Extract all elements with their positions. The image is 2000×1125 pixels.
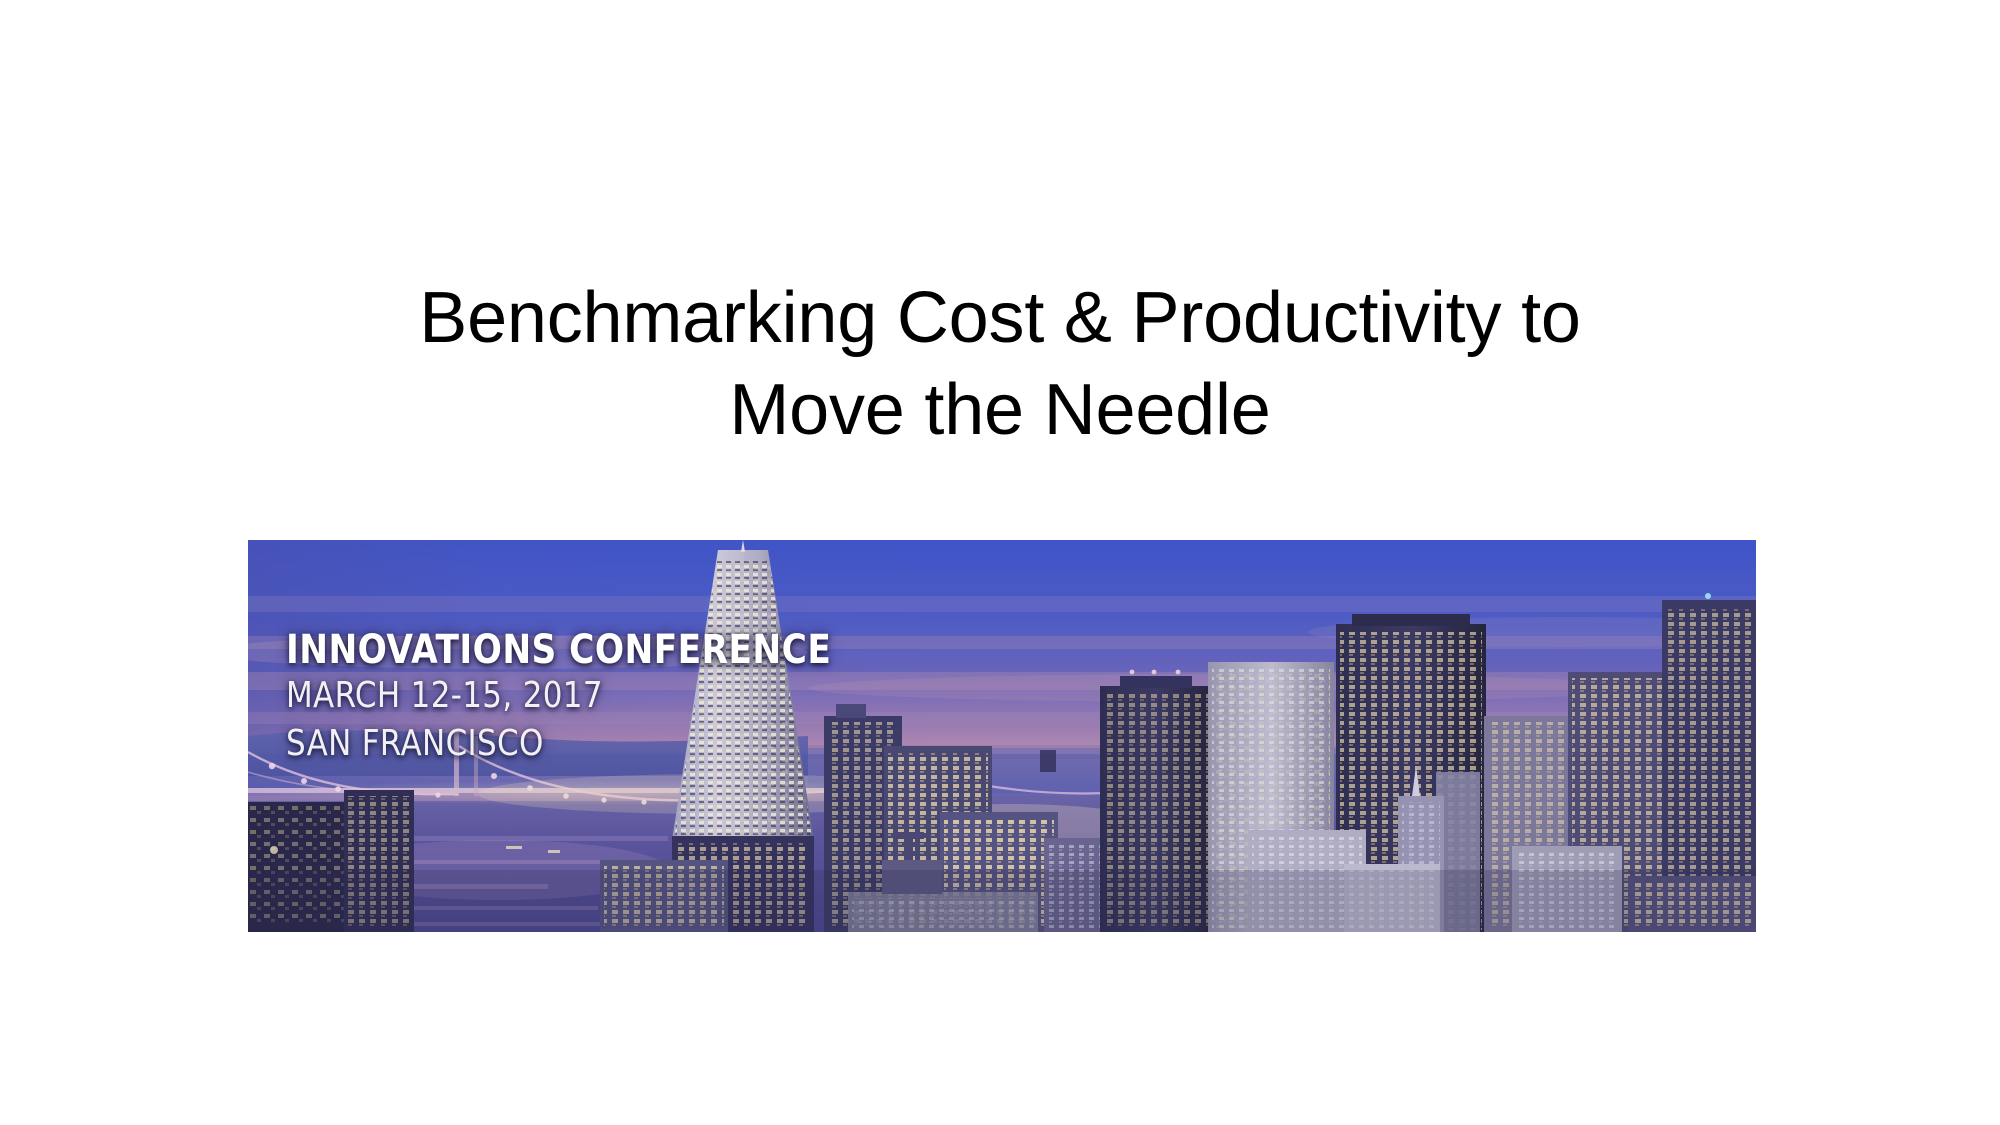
- slide-canvas: Benchmarking Cost & Productivity to Move…: [0, 0, 2000, 1125]
- banner-dates: MARCH 12-15, 2017: [286, 672, 831, 720]
- banner-heading: INNOVATIONS CONFERENCE: [286, 628, 831, 672]
- banner-location: SAN FRANCISCO: [286, 720, 831, 768]
- page-title-line-1: Benchmarking Cost & Productivity to: [250, 272, 1750, 364]
- page-title-line-2: Move the Needle: [250, 364, 1750, 456]
- conference-banner-image: INNOVATIONS CONFERENCE MARCH 12-15, 2017…: [248, 540, 1756, 932]
- banner-text-block: INNOVATIONS CONFERENCE MARCH 12-15, 2017…: [286, 628, 920, 768]
- page-title: Benchmarking Cost & Productivity to Move…: [250, 272, 1750, 456]
